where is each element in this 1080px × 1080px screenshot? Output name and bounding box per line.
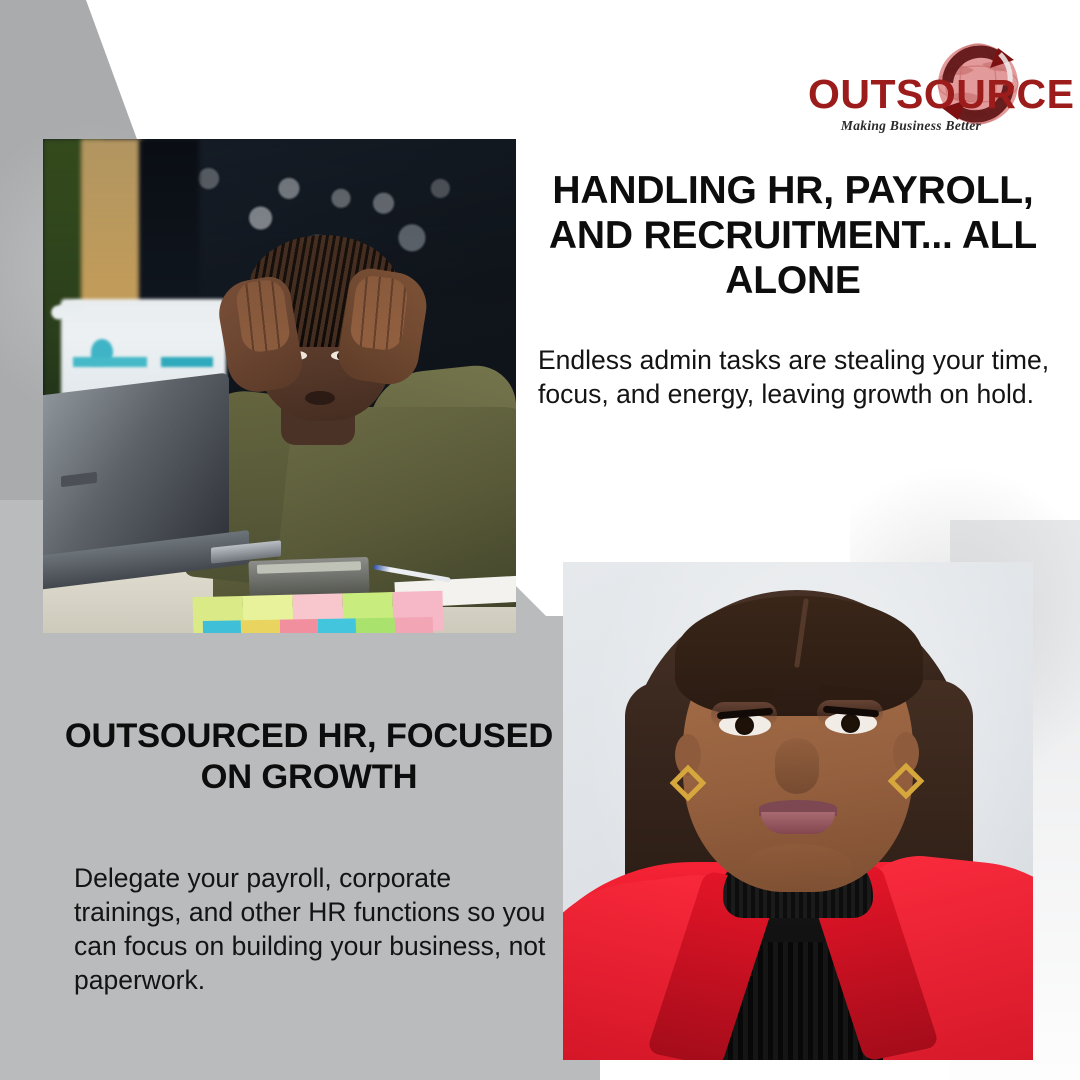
portrait-lower-lip bbox=[761, 812, 835, 834]
top-headline: HANDLING HR, PAYROLL, AND RECRUITMENT...… bbox=[528, 168, 1058, 304]
bottom-body-text: Delegate your payroll, corporate trainin… bbox=[74, 862, 564, 998]
top-body-text: Endless admin tasks are stealing your ti… bbox=[538, 344, 1060, 412]
bottom-headline: OUTSOURCED HR, FOCUSED ON GROWTH bbox=[44, 716, 574, 799]
stressed-employee-photo bbox=[43, 139, 516, 633]
portrait-iris-left bbox=[735, 716, 754, 735]
photo-vignette bbox=[43, 139, 516, 633]
professional-portrait-photo bbox=[563, 562, 1033, 1060]
background-gray-lower-panel bbox=[0, 616, 600, 1080]
social-media-graphic-canvas: OUTSOURCE Making Business Better bbox=[0, 0, 1080, 1080]
logo-tagline: Making Business Better bbox=[816, 118, 1006, 134]
portrait-nose bbox=[775, 738, 819, 794]
brand-logo[interactable]: OUTSOURCE Making Business Better bbox=[808, 30, 1048, 142]
portrait-chin bbox=[743, 844, 853, 892]
portrait-iris-right bbox=[841, 714, 860, 733]
logo-wordmark: OUTSOURCE bbox=[808, 74, 1033, 115]
